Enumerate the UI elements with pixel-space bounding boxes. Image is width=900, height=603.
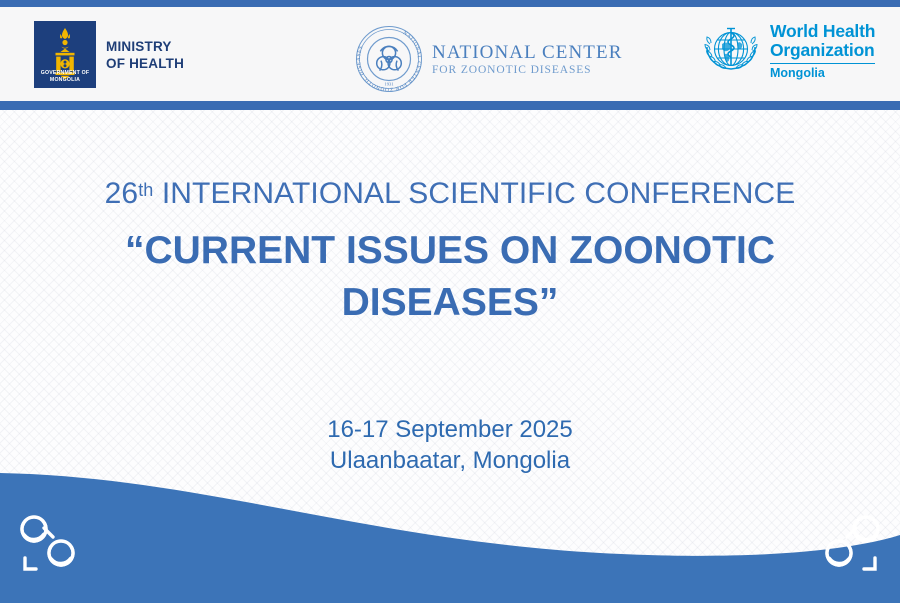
ministry-name-line1: MINISTRY	[106, 38, 184, 55]
conference-number-line: 26th INTERNATIONAL SCIENTIFIC CONFERENCE	[0, 170, 900, 214]
who-mongolia-logo: World Health Organization Mongolia	[700, 20, 875, 82]
nczd-name: NATIONAL CENTER FOR ZOONOTIC DISEASES	[432, 42, 622, 77]
crest-caption-line1: GOVERNMENT OF	[34, 70, 96, 77]
conference-name: INTERNATIONAL SCIENTIFIC CONFERENCE	[153, 177, 795, 210]
who-name-line2: Organization	[770, 41, 875, 61]
ministry-of-health-logo: GOVERNMENT OF MONGOLIA MINISTRY OF HEALT…	[34, 21, 184, 88]
mongolian-ulzii-knot-icon	[814, 511, 886, 579]
biohazard-seal-icon: NATIONAL CENTER FOR ZOONOTIC DISEASES 19…	[352, 22, 426, 96]
bottom-wave-decoration	[0, 443, 900, 603]
event-date: 16-17 September 2025	[0, 414, 900, 445]
who-name-line1: World Health	[770, 22, 875, 42]
nczd-name-line1: NATIONAL CENTER	[432, 42, 622, 63]
conference-theme-line2: DISEASES”	[0, 277, 900, 329]
mongolian-ulzii-knot-icon	[14, 511, 86, 579]
who-globe-wreath-asclepius-icon	[700, 20, 762, 82]
conference-ordinal-suffix: th	[138, 180, 153, 200]
ministry-name-line2: OF HEALTH	[106, 55, 184, 72]
conference-title-slide: GOVERNMENT OF MONGOLIA MINISTRY OF HEALT…	[0, 0, 900, 603]
header-divider-rule	[0, 101, 900, 110]
conference-theme-line1: “CURRENT ISSUES ON ZOONOTIC	[0, 225, 900, 277]
who-country-label: Mongolia	[770, 66, 875, 80]
who-underline-rule	[770, 63, 875, 65]
nczd-name-line2: FOR ZOONOTIC DISEASES	[432, 63, 622, 77]
mongolia-government-crest: GOVERNMENT OF MONGOLIA	[34, 21, 96, 88]
conference-number: 26	[105, 177, 139, 210]
ministry-of-health-name: MINISTRY OF HEALTH	[106, 38, 184, 72]
top-accent-rule	[0, 0, 900, 7]
svg-text:1931: 1931	[384, 82, 394, 87]
who-name-block: World Health Organization Mongolia	[770, 22, 875, 81]
national-center-zoonotic-diseases-logo: NATIONAL CENTER FOR ZOONOTIC DISEASES 19…	[352, 22, 622, 96]
crest-caption: GOVERNMENT OF MONGOLIA	[34, 70, 96, 84]
crest-caption-line2: MONGOLIA	[34, 77, 96, 84]
title-block: 26th INTERNATIONAL SCIENTIFIC CONFERENCE…	[0, 170, 900, 329]
